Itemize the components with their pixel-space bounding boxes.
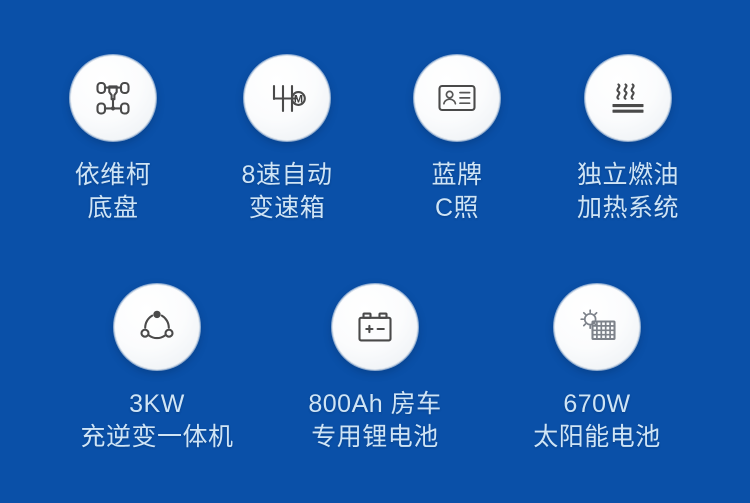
feature-badge — [554, 284, 640, 370]
feature-item-670w-solar-panel[interactable]: 670W 太阳能电池 — [487, 284, 707, 453]
id-card-icon — [433, 74, 481, 122]
feature-caption: 独立燃油 加热系统 — [577, 159, 679, 224]
feature-badge: M — [244, 55, 330, 141]
chassis-icon — [89, 74, 137, 122]
feature-caption: 3KW 充逆变一体机 — [80, 388, 233, 453]
gear-shift-icon: M — [263, 74, 311, 122]
feature-caption: 670W 太阳能电池 — [533, 388, 661, 453]
three-node-network-icon — [133, 303, 181, 351]
heater-icon — [604, 74, 652, 122]
feature-badge — [414, 55, 500, 141]
feature-badge — [114, 284, 200, 370]
feature-caption: 依维柯 底盘 — [75, 159, 152, 224]
feature-item-800ah-rv-lithium-battery[interactable]: 800Ah 房车 专用锂电池 — [265, 284, 485, 453]
feature-caption: 8速自动 变速箱 — [242, 159, 333, 224]
feature-grid-board: 依维柯 底盘 M 8速自动 变速箱 — [0, 0, 750, 503]
feature-badge — [70, 55, 156, 141]
feature-caption: 800Ah 房车 专用锂电池 — [308, 388, 441, 453]
feature-caption: 蓝牌 C照 — [431, 159, 482, 224]
battery-icon — [351, 303, 399, 351]
feature-badge — [585, 55, 671, 141]
feature-item-3kw-charger-inverter[interactable]: 3KW 充逆变一体机 — [47, 284, 267, 453]
feature-item-independent-fuel-heating-system[interactable]: 独立燃油 加热系统 — [518, 55, 738, 224]
solar-panel-icon — [573, 303, 621, 351]
feature-badge — [332, 284, 418, 370]
gear-mode-label: M — [294, 93, 303, 105]
